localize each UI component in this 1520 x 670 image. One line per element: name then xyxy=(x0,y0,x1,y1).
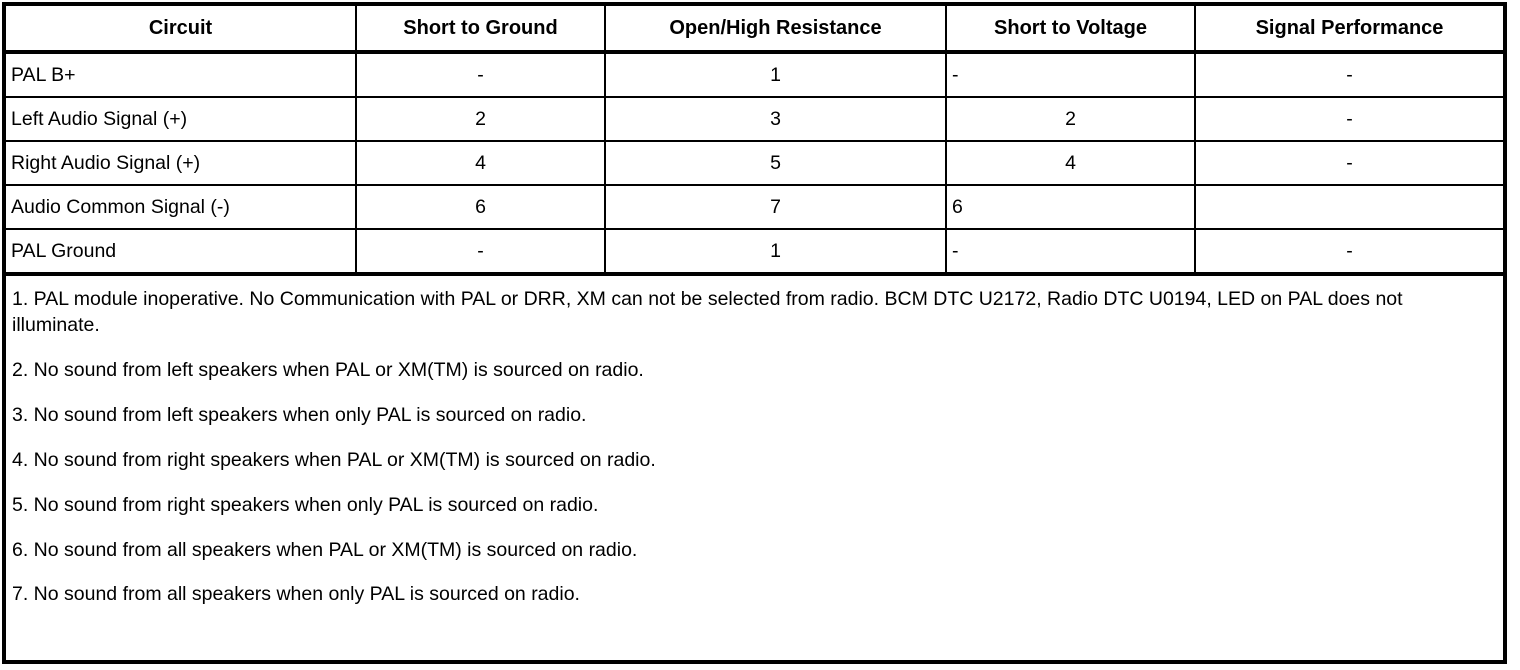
table-row: Audio Common Signal (-) 6 7 6 xyxy=(6,185,1503,229)
table-header: Circuit Short to Ground Open/High Resist… xyxy=(6,6,1503,52)
note-item: 7. No sound from all speakers when only … xyxy=(12,582,1447,608)
circuit-diagnostic-table: Circuit Short to Ground Open/High Resist… xyxy=(6,6,1503,608)
cell-short-to-ground: - xyxy=(356,52,605,97)
notes-list: 1. PAL module inoperative. No Communicat… xyxy=(12,287,1503,608)
table-row: PAL B+ - 1 - - xyxy=(6,52,1503,97)
cell-signal-performance: - xyxy=(1195,52,1503,97)
cell-short-to-voltage: 2 xyxy=(946,97,1195,141)
diagnostic-table-sheet: Circuit Short to Ground Open/High Resist… xyxy=(2,2,1507,664)
note-item: 2. No sound from left speakers when PAL … xyxy=(12,358,1447,384)
cell-short-to-ground: 6 xyxy=(356,185,605,229)
column-header-short-to-voltage: Short to Voltage xyxy=(946,6,1195,52)
cell-short-to-voltage: - xyxy=(946,52,1195,97)
table-row: PAL Ground - 1 - - xyxy=(6,229,1503,274)
cell-short-to-ground: - xyxy=(356,229,605,274)
column-header-signal-performance: Signal Performance xyxy=(1195,6,1503,52)
cell-short-to-voltage: - xyxy=(946,229,1195,274)
notes-container: 1. PAL module inoperative. No Communicat… xyxy=(6,274,1503,608)
note-item: 5. No sound from right speakers when onl… xyxy=(12,493,1447,519)
note-item: 3. No sound from left speakers when only… xyxy=(12,403,1447,429)
cell-circuit: Right Audio Signal (+) xyxy=(6,141,356,185)
cell-short-to-ground: 2 xyxy=(356,97,605,141)
notes-section: 1. PAL module inoperative. No Communicat… xyxy=(6,274,1503,608)
table-header-row: Circuit Short to Ground Open/High Resist… xyxy=(6,6,1503,52)
cell-signal-performance: - xyxy=(1195,141,1503,185)
cell-signal-performance: - xyxy=(1195,97,1503,141)
cell-open-high-resistance: 1 xyxy=(605,52,946,97)
column-header-short-to-ground: Short to Ground xyxy=(356,6,605,52)
note-item: 1. PAL module inoperative. No Communicat… xyxy=(12,287,1447,339)
cell-open-high-resistance: 7 xyxy=(605,185,946,229)
cell-open-high-resistance: 5 xyxy=(605,141,946,185)
cell-open-high-resistance: 1 xyxy=(605,229,946,274)
cell-open-high-resistance: 3 xyxy=(605,97,946,141)
notes-row: 1. PAL module inoperative. No Communicat… xyxy=(6,274,1503,608)
cell-short-to-voltage: 4 xyxy=(946,141,1195,185)
note-item: 6. No sound from all speakers when PAL o… xyxy=(12,538,1447,564)
note-item: 4. No sound from right speakers when PAL… xyxy=(12,448,1447,474)
table-row: Right Audio Signal (+) 4 5 4 - xyxy=(6,141,1503,185)
column-header-circuit: Circuit xyxy=(6,6,356,52)
cell-circuit: PAL B+ xyxy=(6,52,356,97)
cell-short-to-voltage: 6 xyxy=(946,185,1195,229)
cell-circuit: Left Audio Signal (+) xyxy=(6,97,356,141)
table-body: PAL B+ - 1 - - Left Audio Signal (+) 2 3… xyxy=(6,52,1503,274)
cell-signal-performance: - xyxy=(1195,229,1503,274)
column-header-open-high-resistance: Open/High Resistance xyxy=(605,6,946,52)
cell-signal-performance xyxy=(1195,185,1503,229)
cell-circuit: Audio Common Signal (-) xyxy=(6,185,356,229)
cell-circuit: PAL Ground xyxy=(6,229,356,274)
table-row: Left Audio Signal (+) 2 3 2 - xyxy=(6,97,1503,141)
cell-short-to-ground: 4 xyxy=(356,141,605,185)
